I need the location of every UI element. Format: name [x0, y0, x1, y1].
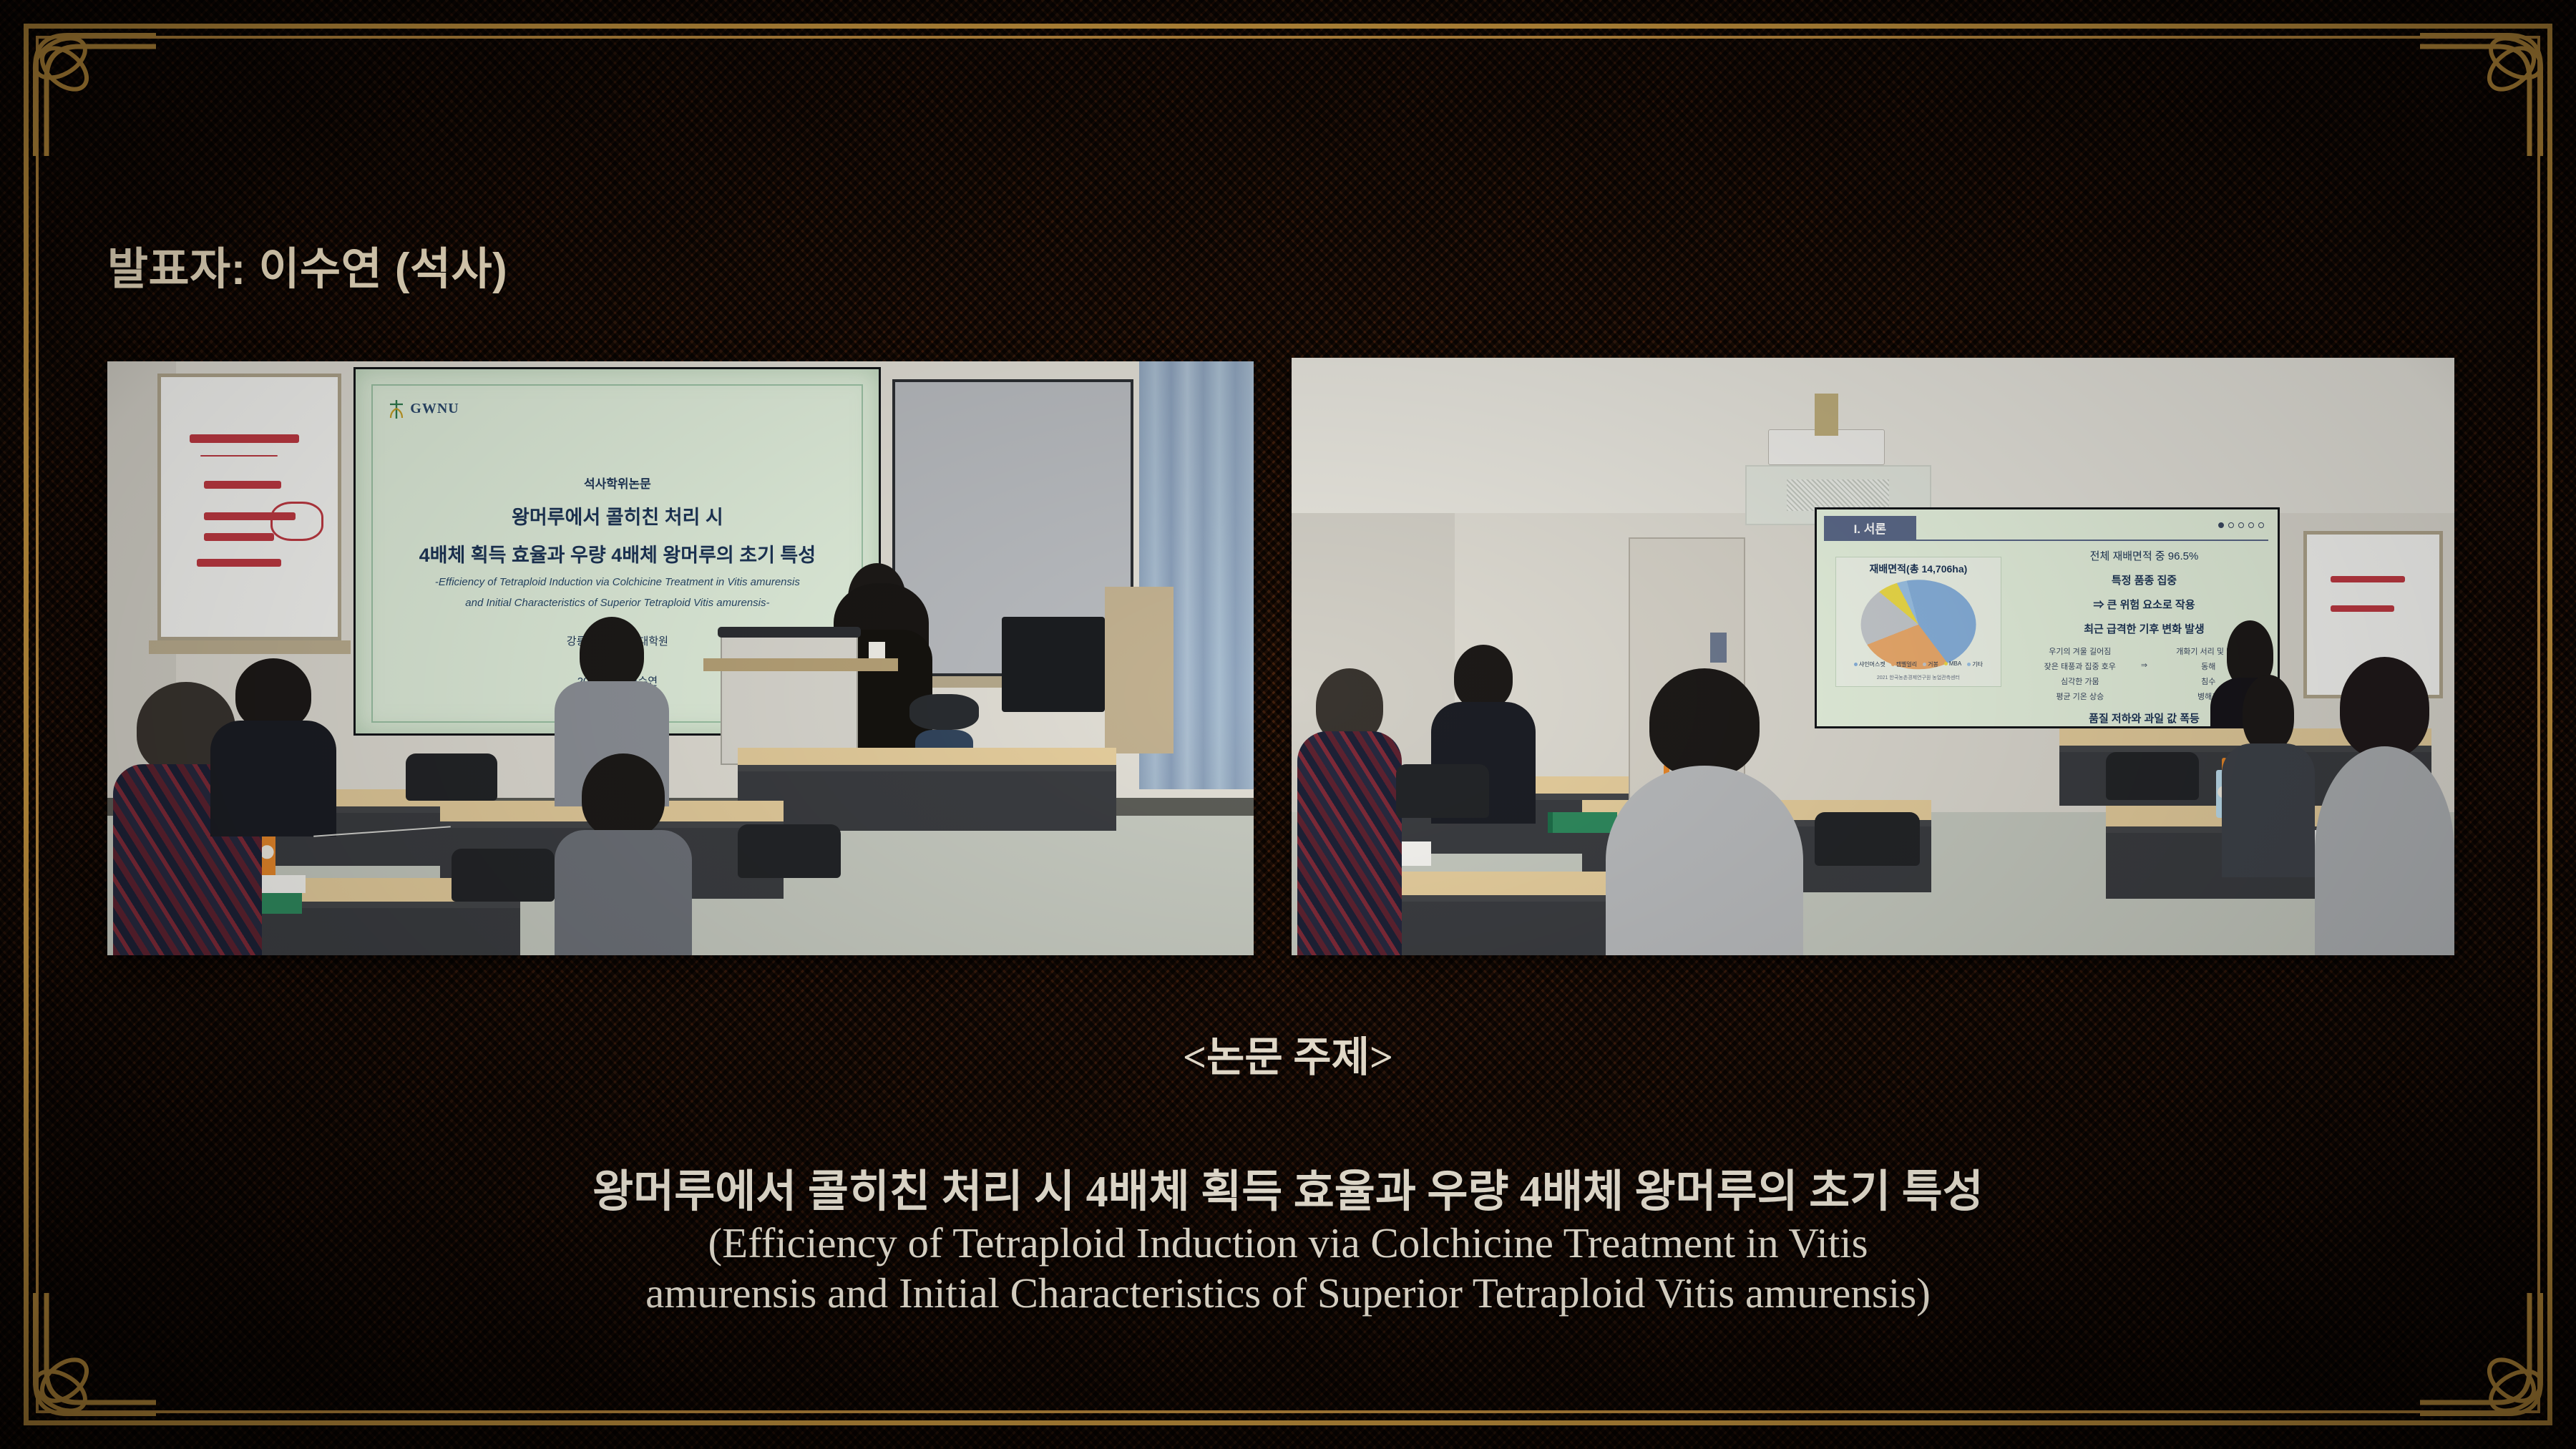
desk-row-back-right: [738, 748, 1116, 771]
thesis-title-block: 왕머루에서 콜히친 처리 시 4배체 획득 효율과 우량 4배체 왕머루의 초기…: [86, 1166, 2490, 1318]
presenter-label-and-name: 발표자: 이수연 (석사): [107, 245, 507, 294]
audience-person-dark-suit-left: [210, 658, 336, 836]
pie-chart-title: 재배면적(총 14,706ha): [1836, 557, 2001, 576]
podium: [721, 635, 858, 766]
thesis-title-english-1: (Efficiency of Tetraploid Induction via …: [86, 1219, 2490, 1269]
cause-item: 심각한 가뭄: [2024, 675, 2135, 687]
pie-legend-item: 기타: [1967, 660, 1983, 668]
audience-person-plaid-right: [1297, 668, 1402, 955]
audience-person-right-1: [2222, 675, 2315, 878]
gwnu-mark-icon: [387, 399, 406, 420]
arrow-icon: [2136, 675, 2153, 687]
slide-line-3: ⇒ 큰 위험 요소로 작용: [2024, 597, 2264, 612]
slide-divider: [1824, 540, 2268, 541]
slide-line-1: 전체 재배면적 중 96.5%: [2024, 548, 2264, 563]
photo-presenter-view: GWNU 석사학위논문 왕머루에서 콜히친 처리 시 4배체 획득 효율과 우량…: [107, 361, 1254, 955]
arrow-icon: [2136, 691, 2153, 702]
pie-chart-source: 2021 한국농촌경제연구원 농업관측센터: [1836, 674, 2001, 681]
presenter-header: 발표자: 이수연 (석사): [107, 233, 507, 297]
gwnu-logo: GWNU: [387, 399, 459, 420]
chair: [452, 849, 555, 902]
introduction-slide: I. 서론 재배면적(총 14,706ha) 샤인머스켓캠벨얼리거봉MBA기타 …: [1817, 509, 2278, 726]
audience-person-right-2: [2315, 657, 2454, 956]
pie-chart-card: 재배면적(총 14,706ha) 샤인머스켓캠벨얼리거봉MBA기타 2021 한…: [1835, 557, 2001, 687]
chair: [2106, 752, 2199, 800]
subject-heading: <논문 주제>: [0, 1023, 2576, 1083]
cause-item: 잦은 태풍과 집중 호우: [2024, 660, 2135, 672]
slide-pager-dots: [2218, 522, 2264, 528]
gwnu-logo-text: GWNU: [410, 401, 459, 417]
pie-chart-legend: 샤인머스켓캠벨얼리거봉MBA기타: [1836, 660, 2001, 668]
chair: [1396, 764, 1489, 818]
slide-section-tab: I. 서론: [1824, 516, 1916, 540]
slide-line-2: 특정 품종 집중: [2024, 572, 2264, 587]
thesis-title-english-2: amurensis and Initial Characteristics of…: [86, 1269, 2490, 1319]
pie-chart-shape: [1860, 580, 1976, 669]
pie-legend-item: 거봉: [1923, 660, 1938, 668]
slide-background: 발표자: 이수연 (석사): [0, 0, 2576, 1449]
pie-legend-item: 샤인머스켓: [1854, 660, 1885, 668]
slide-section-label: I. 서론: [1854, 519, 1886, 537]
cause-item: 평균 기온 상승: [2024, 691, 2135, 702]
audience-person-gray-hoodie: [1606, 668, 1803, 955]
audience-person-center-front: [555, 753, 692, 955]
pie-legend-item: MBA: [1944, 660, 1961, 668]
arrow-icon: [2136, 645, 2153, 657]
cause-item: 우기의 겨울 길어짐: [2024, 645, 2135, 657]
thesis-title-korean: 왕머루에서 콜히친 처리 시 4배체 획득 효율과 우량 4배체 왕머루의 초기…: [86, 1166, 2490, 1219]
chair: [1815, 812, 1919, 866]
photo-audience-view: I. 서론 재배면적(총 14,706ha) 샤인머스켓캠벨얼리거봉MBA기타 …: [1292, 358, 2454, 955]
arrow-icon: ⇒: [2136, 660, 2153, 672]
monitor: [1002, 617, 1105, 712]
pie-legend-item: 캠벨얼리: [1891, 660, 1917, 668]
whiteboard-left: [157, 374, 341, 641]
chair: [406, 753, 497, 801]
chair: [738, 824, 841, 878]
